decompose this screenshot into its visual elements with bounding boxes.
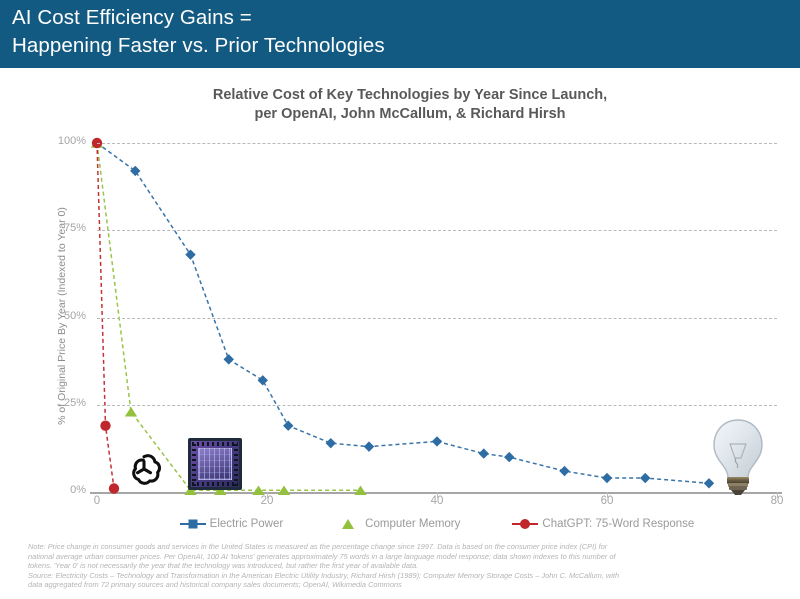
x-tick-label: 60 <box>587 495 627 507</box>
lightbulb-image <box>710 418 766 496</box>
y-tick-label: 25% <box>46 397 86 409</box>
gridline-y <box>97 405 777 406</box>
gridline-y <box>97 230 777 231</box>
data-point-marker[interactable] <box>479 448 489 458</box>
footnote-line-3: tokens. 'Year 0' is not necessarily the … <box>28 561 778 571</box>
y-tick-label: 100% <box>46 135 86 147</box>
data-point-marker[interactable] <box>125 407 137 417</box>
legend-swatch-electric-power <box>180 523 206 526</box>
x-tickmark <box>607 492 608 498</box>
computer-memory-chip-image <box>188 438 242 490</box>
x-tickmark <box>267 492 268 498</box>
data-point-marker[interactable] <box>326 438 336 448</box>
footnote-line-5: data aggregated from 72 primary sources … <box>28 580 778 590</box>
data-point-marker[interactable] <box>185 249 195 259</box>
diamond-marker-icon <box>188 520 197 529</box>
data-point-marker[interactable] <box>504 452 514 462</box>
y-tick-label: 75% <box>46 222 86 234</box>
triangle-marker-icon <box>342 519 354 529</box>
x-tick-label: 0 <box>77 495 117 507</box>
legend-swatch-chatgpt <box>512 523 538 526</box>
legend-label-computer-memory: Computer Memory <box>365 518 460 530</box>
x-tickmark <box>437 492 438 498</box>
data-point-marker[interactable] <box>109 483 119 493</box>
slide-title: AI Cost Efficiency Gains = Happening Fas… <box>12 4 782 60</box>
circle-marker-icon <box>520 519 530 529</box>
x-axis-line <box>90 492 782 494</box>
footnote-block: Note: Price change in consumer goods and… <box>28 542 778 590</box>
footnote-line-4: Source: Electricity Costs – Technology a… <box>28 571 778 581</box>
series-line-0 <box>97 143 709 483</box>
data-point-marker[interactable] <box>130 166 140 176</box>
data-point-marker[interactable] <box>100 420 110 430</box>
legend-item-computer-memory[interactable]: Computer Memory <box>335 518 460 530</box>
y-tick-label: 0% <box>46 484 86 496</box>
legend-swatch-computer-memory <box>335 523 361 526</box>
y-axis-title: % of Original Price By Year (Indexed to … <box>56 136 68 496</box>
data-point-marker[interactable] <box>252 485 264 495</box>
legend-label-chatgpt: ChatGPT: 75-Word Response <box>542 518 694 530</box>
data-point-marker[interactable] <box>432 436 442 446</box>
openai-logo-icon <box>127 452 161 486</box>
x-tick-label: 20 <box>247 495 287 507</box>
data-point-marker[interactable] <box>278 485 290 495</box>
data-point-marker[interactable] <box>283 420 293 430</box>
data-point-marker[interactable] <box>640 473 650 483</box>
chart-legend: Electric Power Computer Memory ChatGPT: … <box>97 518 777 530</box>
header-band: AI Cost Efficiency Gains = Happening Fas… <box>0 0 800 68</box>
data-point-marker[interactable] <box>92 138 102 148</box>
data-point-marker[interactable] <box>364 441 374 451</box>
footnote-line-1: Note: Price change in consumer goods and… <box>28 542 778 552</box>
legend-label-electric-power: Electric Power <box>210 518 284 530</box>
data-point-marker[interactable] <box>354 485 366 495</box>
data-point-marker[interactable] <box>91 138 103 148</box>
data-point-marker[interactable] <box>602 473 612 483</box>
footnote-line-2: national average urban consumer prices. … <box>28 552 778 562</box>
x-tickmark <box>777 492 778 498</box>
slide-root: AI Cost Efficiency Gains = Happening Fas… <box>0 0 800 599</box>
legend-item-chatgpt[interactable]: ChatGPT: 75-Word Response <box>512 518 694 530</box>
x-tick-label: 40 <box>417 495 457 507</box>
legend-item-electric-power[interactable]: Electric Power <box>180 518 284 530</box>
data-point-marker[interactable] <box>258 375 268 385</box>
gridline-y <box>97 318 777 319</box>
data-point-marker[interactable] <box>224 354 234 364</box>
gridline-y <box>97 143 777 144</box>
y-tick-label: 50% <box>46 310 86 322</box>
series-line-2 <box>97 143 114 489</box>
data-point-marker[interactable] <box>559 466 569 476</box>
chart-title: Relative Cost of Key Technologies by Yea… <box>60 86 760 124</box>
x-tick-label: 80 <box>757 495 797 507</box>
data-point-marker[interactable] <box>92 138 102 148</box>
